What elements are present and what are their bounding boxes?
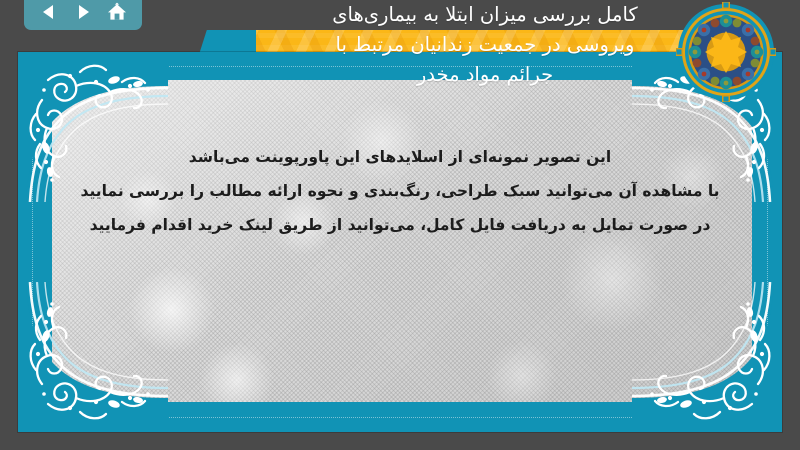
previous-slide-button[interactable] — [36, 0, 62, 24]
slide-body-text: این تصویر نمونه‌ای از اسلایدهای این پاور… — [46, 140, 754, 242]
home-button[interactable] — [104, 0, 130, 24]
slide-content-panel: این تصویر نمونه‌ای از اسلایدهای این پاور… — [18, 52, 782, 432]
home-icon — [106, 2, 128, 22]
triangle-right-icon — [73, 2, 93, 22]
slide-title: کامل بررسی میزان ابتلا به بیماری‌های ویر… — [220, 0, 750, 90]
body-line-3: در صورت تمایل به دریافت فایل کامل، می‌تو… — [46, 208, 754, 242]
next-slide-button[interactable] — [70, 0, 96, 24]
title-line-2: ویروسی در جمعیت زندانیان مرتبط با — [220, 30, 750, 60]
body-line-2: با مشاهده آن می‌توانید سبک طراحی، رنگ‌بن… — [46, 174, 754, 208]
persian-medallion-ornament — [676, 2, 776, 102]
medallion-star-center — [705, 31, 747, 73]
title-line-3: جرائم مواد مخدر — [220, 60, 750, 90]
title-line-1: کامل بررسی میزان ابتلا به بیماری‌های — [220, 0, 750, 30]
slide-navigation-bar[interactable] — [24, 0, 142, 30]
triangle-left-icon — [39, 2, 59, 22]
slide-title-container: کامل بررسی میزان ابتلا به بیماری‌های ویر… — [220, 30, 750, 98]
body-line-1: این تصویر نمونه‌ای از اسلایدهای این پاور… — [46, 140, 754, 174]
